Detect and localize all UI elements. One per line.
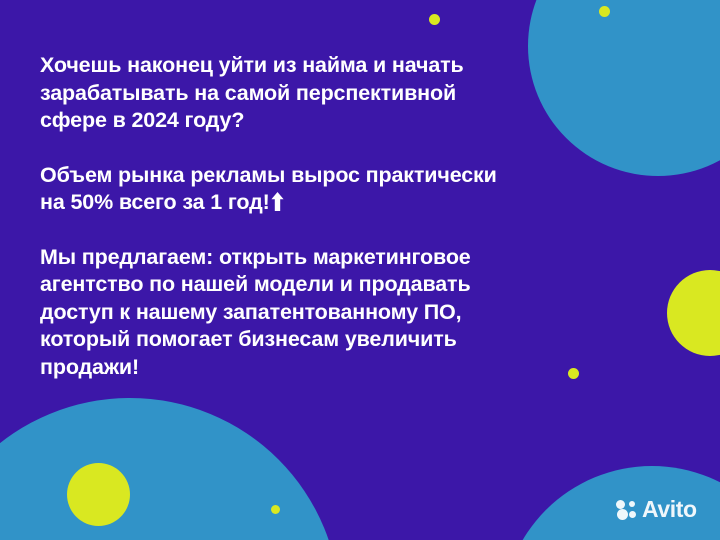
dot-mid-right	[568, 368, 579, 379]
avito-logo: Avito	[616, 498, 697, 521]
promo-copy: Хочешь наконец уйти из найма и начать за…	[40, 52, 560, 381]
four-circles-icon	[616, 500, 637, 520]
circle-blue-bottom-left	[0, 398, 340, 540]
circle-yellow-bottom-left	[67, 463, 130, 526]
circle-yellow-right	[667, 270, 720, 356]
paragraph-stat: Объем рынка рекламы вырос практически на…	[40, 162, 560, 217]
paragraph-stat-text: Объем рынка рекламы вырос практически на…	[40, 163, 497, 215]
paragraph-hook: Хочешь наконец уйти из найма и начать за…	[40, 52, 560, 135]
avito-logo-text: Avito	[642, 498, 697, 521]
dot-bottom-left	[271, 505, 280, 514]
promo-slide: Хочешь наконец уйти из найма и начать за…	[0, 0, 720, 540]
dot-top-right	[599, 6, 610, 17]
paragraph-offer: Мы предлагаем: открыть маркетинговое аге…	[40, 244, 560, 382]
dot-top-center	[429, 14, 440, 25]
arrow-up-icon	[271, 191, 284, 210]
